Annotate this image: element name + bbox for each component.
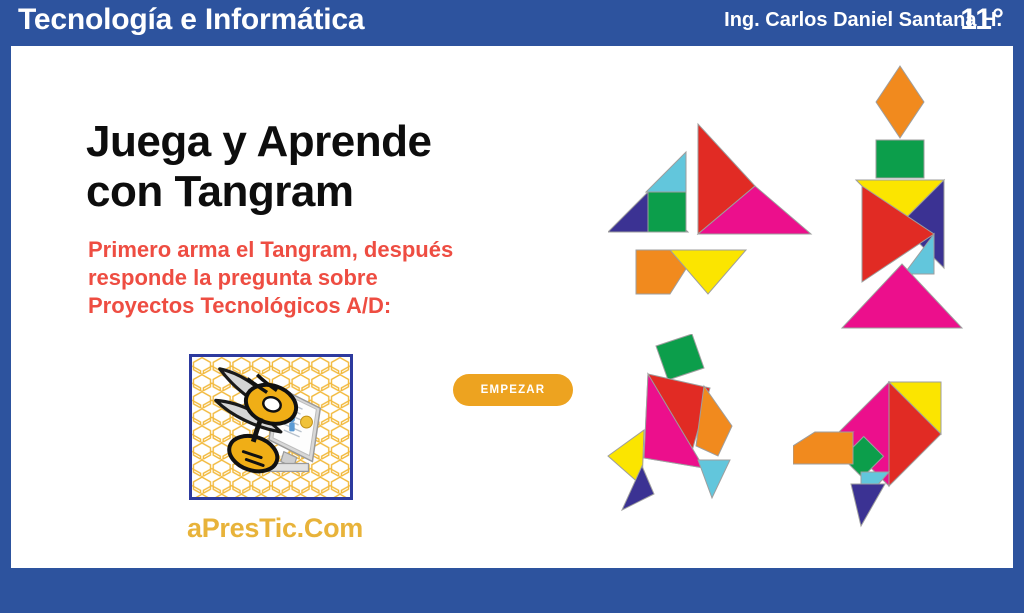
instruction-line-1: Primero arma el Tangram, después	[88, 236, 548, 264]
footer-band	[0, 568, 1024, 613]
tangram-bird	[793, 364, 958, 544]
logo-container	[189, 354, 353, 500]
main-heading: Juega y Aprende con Tangram	[86, 117, 556, 216]
main-heading-line-1: Juega y Aprende	[86, 117, 556, 167]
instruction-line-3: Proyectos Tecnológicos A/D:	[88, 292, 548, 320]
instruction-line-2: responde la pregunta sobre	[88, 264, 548, 292]
start-button[interactable]: EMPEZAR	[453, 374, 573, 406]
bee-computer-logo-icon	[192, 357, 350, 497]
logo-caption: aPresTic.Com	[175, 513, 375, 544]
slide-root: Tecnología e Informática 11° Juega y Apr…	[0, 0, 1024, 613]
tangram-runner	[604, 334, 764, 539]
footer-author: Ing. Carlos Daniel Santana H.	[724, 9, 1002, 32]
logo-frame	[189, 354, 353, 500]
page-title: Tecnología e Informática	[18, 3, 364, 37]
frame-right-border	[1013, 0, 1024, 613]
tangram-sailboat	[608, 122, 818, 297]
main-heading-line-2: con Tangram	[86, 167, 556, 217]
frame-left-border	[0, 0, 11, 613]
instruction-text: Primero arma el Tangram, después respond…	[88, 236, 548, 320]
tangram-candle	[838, 58, 966, 343]
